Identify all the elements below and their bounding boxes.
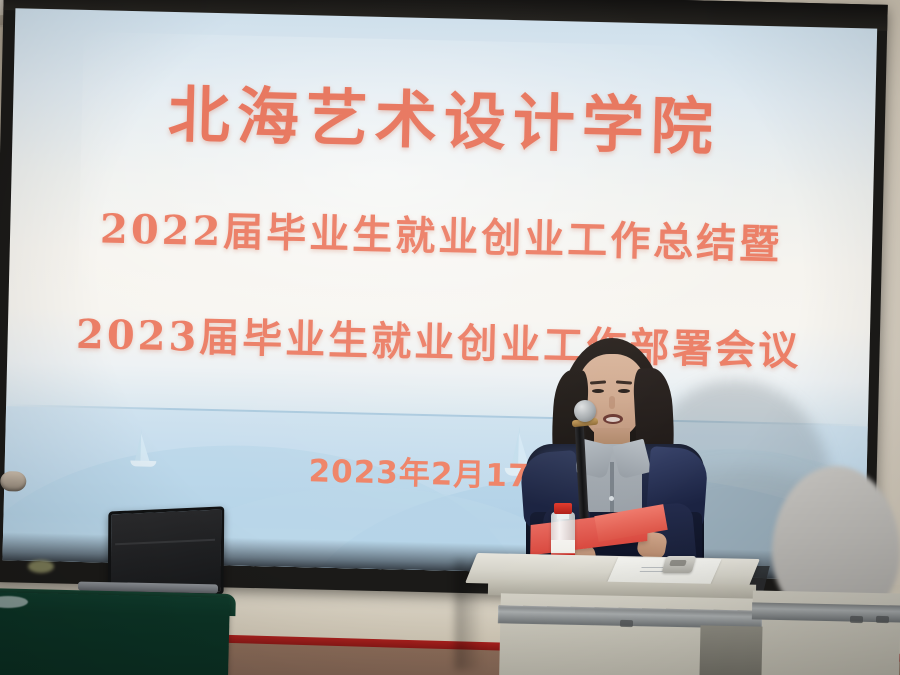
slide-subtitle-line-1: 2022届毕业生就业创业工作总结暨 [10,194,873,272]
wall-speaker-icon [0,471,26,492]
clicker-button[interactable] [669,560,687,566]
rail-marking-right-2 [876,616,889,623]
screen-surface: 北海艺术设计学院 2022届毕业生就业创业工作总结暨 2023届毕业生就业创业工… [2,8,877,580]
eye-right [618,389,630,393]
rail-marking-right [850,616,863,623]
slide-subtitle-line-2: 2023届毕业生就业创业工作部署会议 [7,300,870,378]
eye-left [592,389,604,393]
rail-marking-left [620,620,633,627]
teeth [606,417,620,422]
microphone-icon [574,400,596,422]
nose [609,396,615,409]
shirt-button-1 [609,496,614,501]
lectern-lower-panel [699,625,762,675]
water-bottle-cap [554,503,572,514]
laptop-hinge-line [115,539,215,546]
table-smudge [28,560,54,573]
side-table-cloth [0,592,230,675]
slide-institution-title: 北海艺术设计学院 [12,60,876,170]
photograph-canvas: 北海艺术设计学院 2022届毕业生就业创业工作总结暨 2023届毕业生就业创业工… [0,0,900,675]
